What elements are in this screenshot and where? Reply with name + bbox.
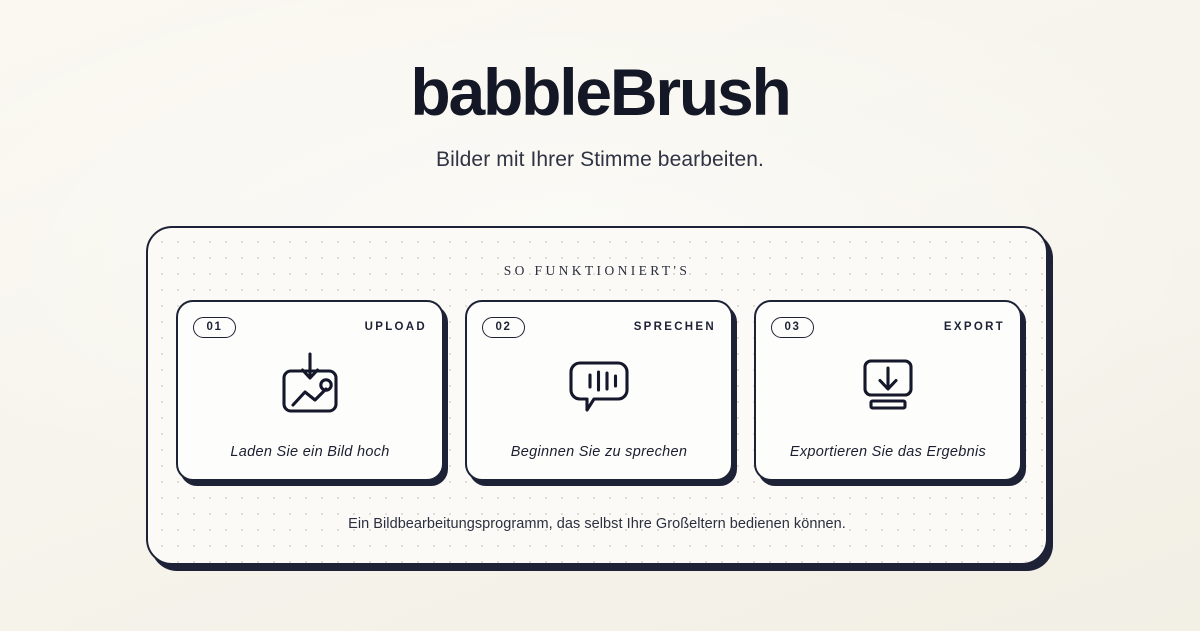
step-badge: 01 <box>193 317 236 338</box>
brand-title: babbleBrush <box>0 58 1200 127</box>
step-label: SPRECHEN <box>634 321 716 333</box>
panel-footer-text: Ein Bildbearbeitungsprogramm, das selbst… <box>148 516 1046 532</box>
how-it-works-panel-wrapper: SO FUNKTIONIERT'S 01 UPLOAD <box>146 226 1048 565</box>
step-card-export[interactable]: 03 EXPORT Exportieren Sie das Ergebni <box>754 300 1022 481</box>
step-card-upload[interactable]: 01 UPLOAD Laden Sie <box>176 300 444 481</box>
step-caption: Beginnen Sie zu sprechen <box>477 444 721 460</box>
app-root: babbleBrush Bilder mit Ihrer Stimme bear… <box>0 0 1200 631</box>
steps-card-row: 01 UPLOAD Laden Sie <box>176 300 1022 486</box>
brand-tagline: Bilder mit Ihrer Stimme bearbeiten. <box>0 148 1200 172</box>
step-label: UPLOAD <box>365 321 427 333</box>
section-eyebrow: SO FUNKTIONIERT'S <box>148 263 1046 279</box>
monitor-download-icon <box>756 350 1020 422</box>
step-label: EXPORT <box>944 321 1005 333</box>
card-header: 02 SPRECHEN <box>482 316 716 338</box>
step-badge: 03 <box>771 317 814 338</box>
card-header: 01 UPLOAD <box>193 316 427 338</box>
speech-bubble-waveform-icon <box>467 350 731 422</box>
step-card-speak[interactable]: 02 SPRECHEN Beginnen <box>465 300 733 481</box>
how-it-works-panel: SO FUNKTIONIERT'S 01 UPLOAD <box>146 226 1048 565</box>
step-caption: Exportieren Sie das Ergebnis <box>766 444 1010 460</box>
step-badge: 02 <box>482 317 525 338</box>
card-header: 03 EXPORT <box>771 316 1005 338</box>
image-upload-icon <box>178 350 442 422</box>
page-header: babbleBrush Bilder mit Ihrer Stimme bear… <box>0 58 1200 172</box>
step-caption: Laden Sie ein Bild hoch <box>188 444 432 460</box>
